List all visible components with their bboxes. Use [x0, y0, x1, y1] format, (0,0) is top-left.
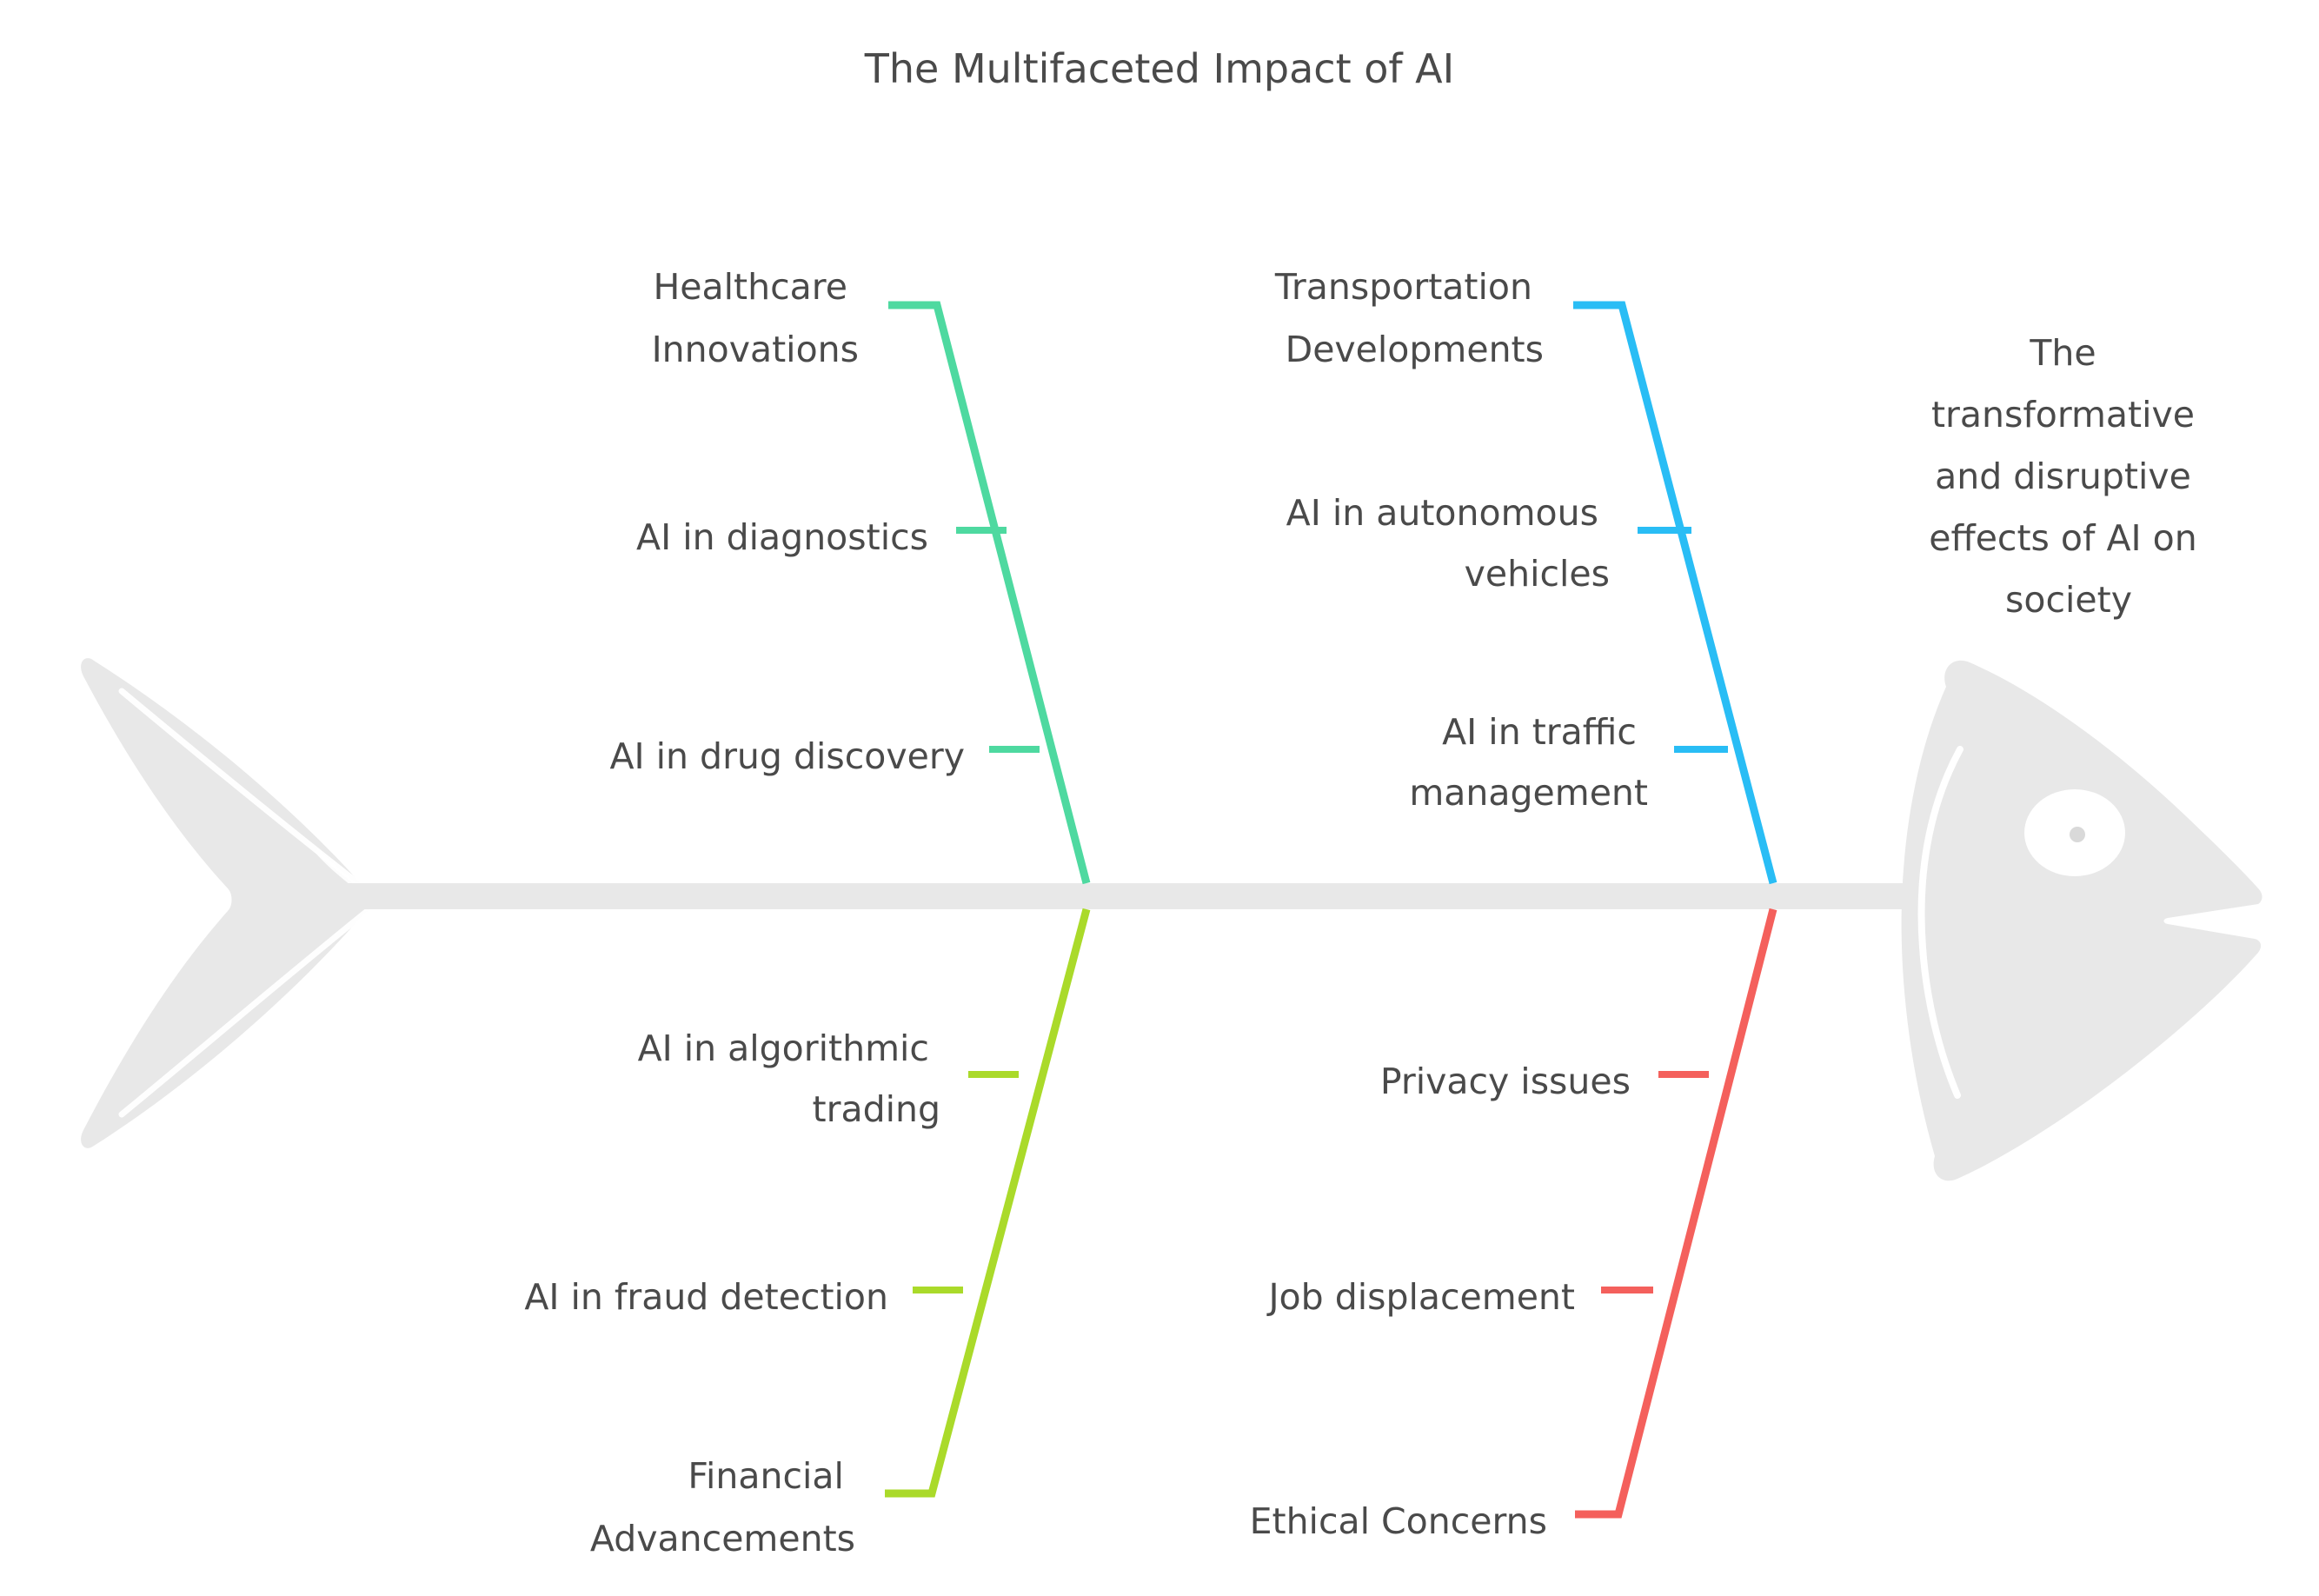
cause-label-ai-in-fraud-detection: AI in fraud detection — [524, 1276, 888, 1318]
fish-head-icon — [1902, 661, 2263, 1180]
cause-label-ai-in-drug-discovery: AI in drug discovery — [609, 735, 965, 777]
branch-label-financial: Financial Advancements — [590, 1455, 855, 1559]
fishbone-diagram-canvas: The Multifaceted Impact of AI Healthcar — [0, 0, 2319, 1596]
page-title: The Multifaceted Impact of AI — [864, 45, 1454, 92]
branch-healthcare[interactable]: Healthcare Innovations AI in diagnostics… — [609, 266, 1086, 883]
branch-financial[interactable]: AI in algorithmic trading AI in fraud de… — [524, 909, 1086, 1559]
fishbone-diagram: The Multifaceted Impact of AI Healthcar — [0, 0, 2319, 1596]
branch-label-healthcare: Healthcare Innovations — [652, 266, 859, 370]
cause-label-privacy-issues: Privacy issues — [1380, 1061, 1631, 1102]
branch-line-ethical — [1575, 909, 1773, 1514]
fish-pupil-icon — [2070, 827, 2085, 842]
branch-label-ethical: Ethical Concerns — [1250, 1500, 1547, 1542]
cause-label-job-displacement: Job displacement — [1266, 1276, 1575, 1318]
branch-line-financial — [885, 909, 1086, 1493]
cause-label-ai-in-algorithmic-trading: AI in algorithmic trading — [638, 1027, 940, 1130]
branch-ethical[interactable]: Privacy issues Job displacement Ethical … — [1250, 909, 1773, 1542]
fish-spine-icon — [233, 883, 1963, 909]
cause-label-ai-in-traffic-management: AI in traffic management — [1409, 711, 1648, 814]
effect-statement: The transformative and disruptive effect… — [1929, 332, 2209, 621]
cause-label-ai-in-autonomous-vehicles: AI in autonomous vehicles — [1286, 492, 1610, 595]
cause-label-ai-in-diagnostics: AI in diagnostics — [636, 516, 928, 558]
branch-line-healthcare — [888, 305, 1086, 883]
branch-label-transportation: Transportation Developments — [1274, 266, 1544, 370]
branch-transportation[interactable]: Transportation Developments AI in autono… — [1274, 266, 1773, 883]
